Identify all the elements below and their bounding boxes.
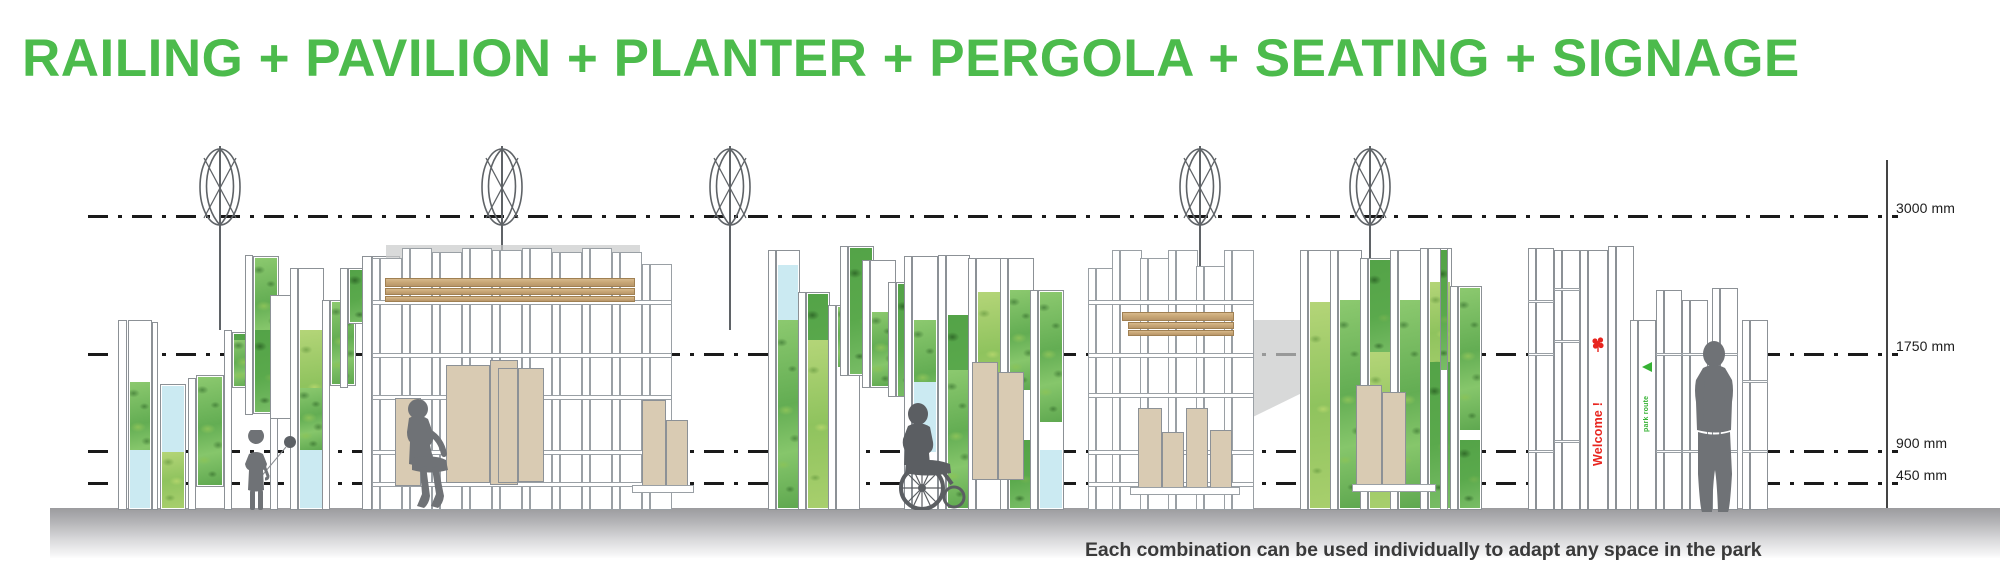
signage-slat <box>1750 320 1768 510</box>
signage-slat <box>1656 290 1664 510</box>
signage-rail <box>1656 353 1682 356</box>
flower-icon <box>1591 336 1605 352</box>
signage-slat <box>1608 246 1616 510</box>
dimension-label-450: 450 mm <box>1896 467 1947 483</box>
module-signage: Welcome ! park route <box>0 0 1800 574</box>
signage-direction-text: park route <box>1643 376 1650 432</box>
signage-rail <box>1528 450 1554 453</box>
dimension-axis-line <box>1886 160 1888 508</box>
signage-rail <box>1554 440 1580 443</box>
signage-slat <box>1664 290 1682 510</box>
triangle-arrow-icon <box>1641 360 1653 372</box>
dimension-label-3000: 3000 mm <box>1896 200 1955 216</box>
signage-slat <box>1536 248 1554 510</box>
signage-rail <box>1742 380 1768 383</box>
signage-slat <box>1528 248 1536 510</box>
elevation-drawing-canvas: RAILING + PAVILION + PLANTER + PERGOLA +… <box>0 0 2000 574</box>
signage-welcome-panel[interactable] <box>1580 250 1588 510</box>
dimension-label-900: 900 mm <box>1896 435 1947 451</box>
figure-standing-adult <box>1684 340 1744 512</box>
signage-rail <box>1656 450 1682 453</box>
signage-welcome-text: Welcome ! <box>1591 356 1605 466</box>
signage-direction-panel[interactable] <box>1630 320 1638 510</box>
signage-rail <box>1742 450 1768 453</box>
signage-rail <box>1554 340 1580 343</box>
signage-rail <box>1528 353 1554 356</box>
figure-caption: Each combination can be used individuall… <box>1085 537 1985 563</box>
dimension-label-1750: 1750 mm <box>1896 338 1955 354</box>
signage-rail <box>1528 300 1554 303</box>
signage-rail <box>1554 288 1580 291</box>
